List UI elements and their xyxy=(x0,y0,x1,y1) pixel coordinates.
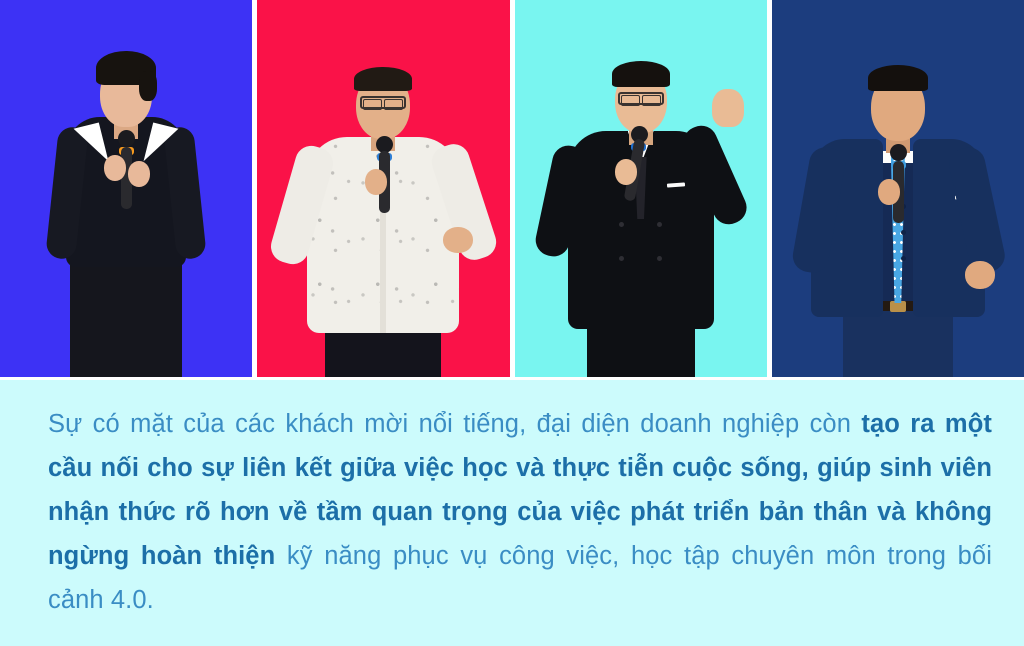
figure-1-skirt xyxy=(70,249,182,377)
photo-panel-2[interactable] xyxy=(257,0,509,377)
caption-run-1: Sự có mặt của các khách mời nổi tiếng, đ… xyxy=(48,410,861,438)
figure-1-hand-left xyxy=(104,155,126,181)
figure-3-button-3 xyxy=(619,256,624,261)
speaker-figure-1 xyxy=(26,45,226,377)
figure-4-trousers xyxy=(843,307,953,377)
figure-3-hand-waving xyxy=(712,89,744,127)
photo-panel-1[interactable] xyxy=(0,0,252,377)
photo-panel-3[interactable] xyxy=(515,0,767,377)
figure-4-mic-head xyxy=(890,144,907,161)
figure-4-hair xyxy=(868,65,928,91)
figure-1-hair-bun xyxy=(139,71,157,101)
figure-3-button-2 xyxy=(657,222,662,227)
photo-panel-4[interactable] xyxy=(772,0,1024,377)
figure-1-hand-right xyxy=(128,161,150,187)
speaker-figure-4 xyxy=(793,43,1003,377)
figure-3-button-4 xyxy=(657,256,662,261)
figure-3-glasses xyxy=(618,92,664,105)
caption-block: Sự có mặt của các khách mời nổi tiếng, đ… xyxy=(0,380,1024,646)
figure-2-hair xyxy=(354,67,412,91)
figure-1-mic-head xyxy=(118,130,135,147)
caption-paragraph: Sự có mặt của các khách mời nổi tiếng, đ… xyxy=(48,402,992,622)
figure-4-vest-button-3 xyxy=(901,256,906,261)
figure-2-hand-mic xyxy=(365,169,387,195)
figure-4-hand-mic xyxy=(878,179,900,205)
speaker-figure-2 xyxy=(277,42,489,377)
figure-4-hand-open xyxy=(965,261,995,289)
article-photo-caption-page: Sự có mặt của các khách mời nổi tiếng, đ… xyxy=(0,0,1024,646)
speaker-figure-3 xyxy=(534,41,748,377)
figure-3-button-1 xyxy=(619,222,624,227)
figure-2-glasses xyxy=(360,96,406,109)
figure-3-hair xyxy=(612,61,670,87)
photo-strip xyxy=(0,0,1024,377)
figure-3-hand-mic xyxy=(615,159,637,185)
figure-2-hand-gesture xyxy=(443,227,473,253)
figure-4-vest-button-2 xyxy=(901,230,906,235)
